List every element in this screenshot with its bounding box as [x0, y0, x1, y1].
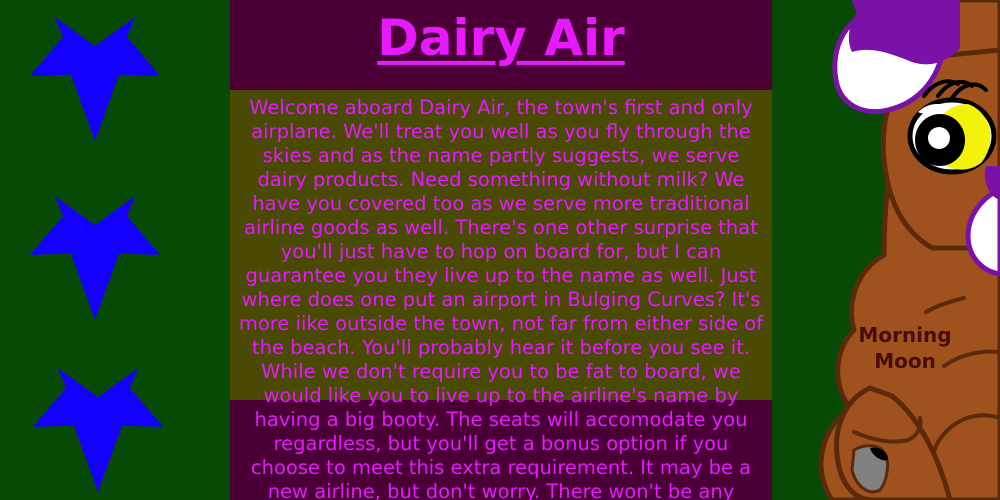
page-root: Dairy Air Welcome aboard Dairy Air, the …: [0, 0, 1000, 500]
pony-character-icon: [772, 0, 1000, 500]
content-column: Dairy Air Welcome aboard Dairy Air, the …: [230, 0, 772, 500]
character-illustration: Morning Moon: [772, 0, 1000, 500]
star-icon-middle: [30, 196, 160, 320]
page-title: Dairy Air: [230, 9, 772, 67]
body-paragraph: Welcome aboard Dairy Air, the town's fir…: [230, 96, 772, 500]
star-icon-bottom: [33, 368, 163, 492]
pony-eye-highlight: [928, 127, 950, 149]
star-icon-top: [30, 17, 160, 141]
title-band: Dairy Air: [230, 0, 772, 90]
star-decoration-panel: [0, 0, 230, 500]
